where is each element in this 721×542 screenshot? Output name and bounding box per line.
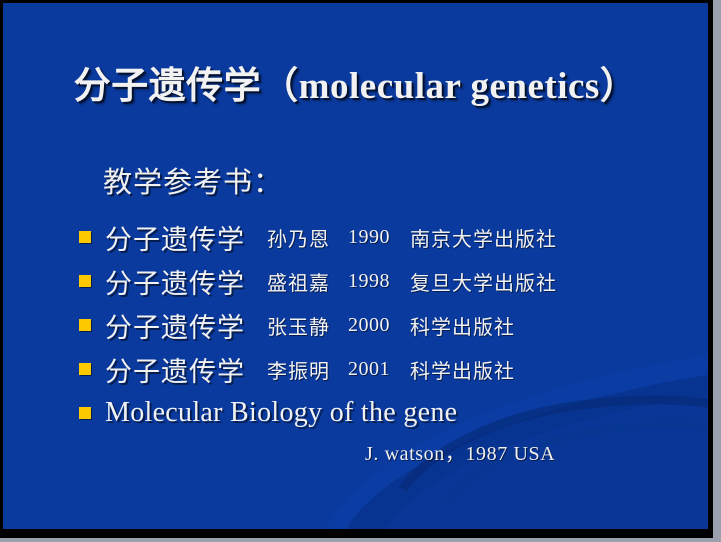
slide-subtitle: 教学参考书：	[103, 159, 283, 201]
list-item: 分子遗传学 盛祖嘉 1998 复旦大学出版社	[79, 259, 688, 303]
book-author: 孙乃恩	[267, 223, 330, 252]
book-year: 1998	[348, 270, 390, 293]
book-title: 分子遗传学	[105, 350, 245, 389]
book-publisher: 科学出版社	[410, 355, 515, 384]
square-bullet-icon	[79, 231, 91, 243]
book-title: 分子遗传学	[105, 262, 245, 301]
reference-book-list: 分子遗传学 孙乃恩 1990 南京大学出版社 分子遗传学 盛祖嘉 1998 复旦…	[79, 215, 688, 435]
book-author: 李振明	[267, 355, 330, 384]
slide-title-cjk: 分子遗传学（	[74, 64, 299, 107]
square-bullet-icon	[79, 363, 91, 375]
slide-title-close-paren: ）	[600, 64, 638, 107]
book-publisher: 复旦大学出版社	[410, 267, 557, 296]
book-publisher: 南京大学出版社	[410, 223, 557, 252]
book-attribution: J. watson，1987 USA	[365, 437, 555, 466]
book-author: 盛祖嘉	[267, 267, 330, 296]
book-title: Molecular Biology of the gene	[105, 397, 457, 429]
square-bullet-icon	[79, 319, 91, 331]
slide-frame: 分子遗传学（molecular genetics） 教学参考书： 分子遗传学 孙…	[0, 0, 713, 538]
book-year: 2000	[348, 314, 390, 337]
slide-content: 分子遗传学（molecular genetics） 教学参考书： 分子遗传学 孙…	[3, 3, 708, 529]
book-year: 1990	[348, 226, 390, 249]
list-item: 分子遗传学 孙乃恩 1990 南京大学出版社	[79, 215, 688, 259]
book-publisher: 科学出版社	[410, 311, 515, 340]
square-bullet-icon	[79, 407, 91, 419]
book-title: 分子遗传学	[105, 306, 245, 345]
slide-title: 分子遗传学（molecular genetics）	[3, 55, 708, 109]
slide-canvas: 分子遗传学（molecular genetics） 教学参考书： 分子遗传学 孙…	[3, 3, 708, 529]
book-author: 张玉静	[267, 311, 330, 340]
book-year: 2001	[348, 358, 390, 381]
list-item: 分子遗传学 张玉静 2000 科学出版社	[79, 303, 688, 347]
list-item: 分子遗传学 李振明 2001 科学出版社	[79, 347, 688, 391]
book-title: 分子遗传学	[105, 218, 245, 257]
slide-title-latin: molecular genetics	[299, 66, 600, 107]
square-bullet-icon	[79, 275, 91, 287]
list-item: Molecular Biology of the gene	[79, 391, 688, 435]
